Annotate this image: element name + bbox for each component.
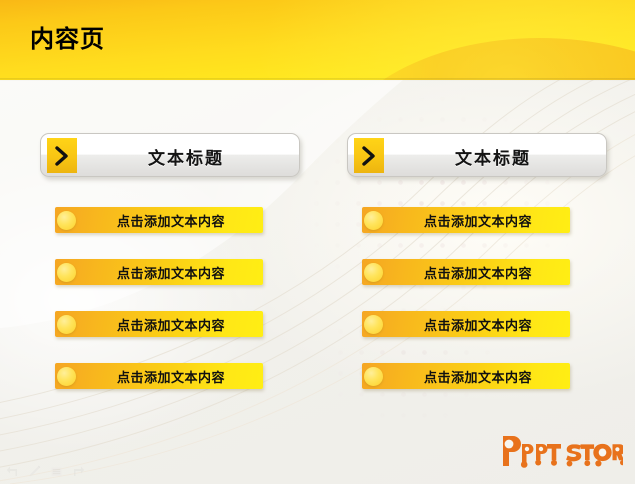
title-pill-label: 文本标题 — [388, 134, 598, 177]
bar-row: 点击添加文本内容 — [40, 207, 310, 259]
header-shadow-edge — [0, 78, 635, 81]
redo-arrow-icon[interactable] — [72, 465, 85, 478]
bar-list-right: 点击添加文本内容 点击添加文本内容 点击添加文本内容 点击添加文本内容 — [347, 207, 617, 415]
content-bar[interactable]: 点击添加文本内容 — [362, 259, 570, 285]
bar-row: 点击添加文本内容 — [347, 207, 617, 259]
content-bar-label: 点击添加文本内容 — [392, 207, 564, 233]
content-bar-label: 点击添加文本内容 — [392, 363, 564, 389]
title-pill-left[interactable]: 文本标题 — [40, 133, 300, 177]
circle-bullet-icon — [364, 263, 383, 282]
lines-list-icon[interactable] — [50, 465, 63, 478]
content-bar-label: 点击添加文本内容 — [85, 363, 257, 389]
content-bar-label: 点击添加文本内容 — [85, 207, 257, 233]
content-bar[interactable]: 点击添加文本内容 — [55, 311, 263, 337]
content-bar-label: 点击添加文本内容 — [85, 311, 257, 337]
circle-bullet-icon — [57, 263, 76, 282]
content-bar-label: 点击添加文本内容 — [85, 259, 257, 285]
title-pill-right[interactable]: 文本标题 — [347, 133, 607, 177]
slide-header: 内容页 — [0, 0, 635, 80]
content-column-right: 文本标题 点击添加文本内容 点击添加文本内容 点击添加文本内容 — [347, 133, 617, 415]
content-bar-label: 点击添加文本内容 — [392, 311, 564, 337]
slide-canvas: 内容页 文本标题 点击添加文本内容 点击添加文本内容 — [0, 0, 635, 484]
content-bar[interactable]: 点击添加文本内容 — [55, 363, 263, 389]
content-bar[interactable]: 点击添加文本内容 — [55, 207, 263, 233]
footer-icon-bar — [6, 465, 85, 478]
title-pill-label: 文本标题 — [81, 134, 291, 177]
ppt-store-logo — [495, 434, 623, 470]
bar-row: 点击添加文本内容 — [347, 363, 617, 415]
bar-row: 点击添加文本内容 — [40, 363, 310, 415]
content-bar[interactable]: 点击添加文本内容 — [362, 207, 570, 233]
header-highlight-arc — [250, 0, 635, 80]
circle-bullet-icon — [364, 315, 383, 334]
chevron-right-icon — [47, 138, 77, 173]
bar-row: 点击添加文本内容 — [40, 311, 310, 363]
bar-row: 点击添加文本内容 — [347, 311, 617, 363]
bar-list-left: 点击添加文本内容 点击添加文本内容 点击添加文本内容 点击添加文本内容 — [40, 207, 310, 415]
page-title: 内容页 — [30, 28, 105, 52]
bar-row: 点击添加文本内容 — [40, 259, 310, 311]
content-bar[interactable]: 点击添加文本内容 — [55, 259, 263, 285]
content-column-left: 文本标题 点击添加文本内容 点击添加文本内容 点击添加文本内容 — [40, 133, 310, 415]
undo-arrow-icon[interactable] — [6, 465, 19, 478]
bar-row: 点击添加文本内容 — [347, 259, 617, 311]
pencil-icon[interactable] — [28, 465, 41, 478]
circle-bullet-icon — [57, 211, 76, 230]
circle-bullet-icon — [57, 367, 76, 386]
circle-bullet-icon — [57, 315, 76, 334]
content-bar-label: 点击添加文本内容 — [392, 259, 564, 285]
chevron-right-icon — [354, 138, 384, 173]
content-bar[interactable]: 点击添加文本内容 — [362, 363, 570, 389]
content-bar[interactable]: 点击添加文本内容 — [362, 311, 570, 337]
circle-bullet-icon — [364, 211, 383, 230]
circle-bullet-icon — [364, 367, 383, 386]
